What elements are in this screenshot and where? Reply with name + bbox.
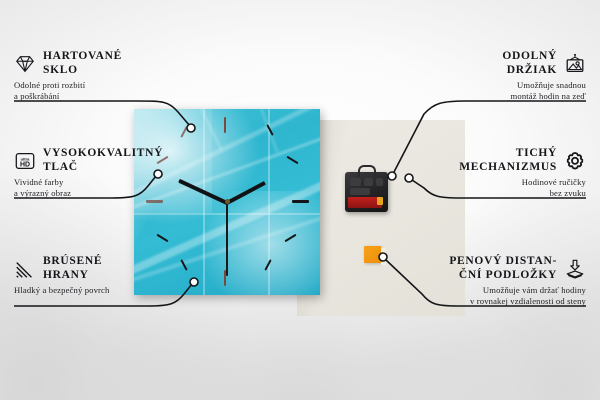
- callout-subtitle-line2: montáž hodin na zeď: [406, 91, 586, 102]
- callout-title-line1: VYSOKOKVALITNÝ: [43, 147, 163, 161]
- callout-title-line2: TLAČ: [43, 161, 163, 175]
- battery-terminal: [377, 197, 383, 205]
- callout-polished-edges[interactable]: BRÚSENÉ HRANY Hladký a bezpečný povrch: [14, 255, 199, 296]
- clock-tick: [146, 200, 163, 203]
- mechanism-detail: [350, 188, 370, 195]
- clock-reflection-line: [268, 109, 270, 295]
- diamond-icon: [14, 53, 36, 75]
- product-infographic: HARTOVANÉ SKLO Odolné proti rozbití a po…: [0, 0, 600, 400]
- callout-subtitle-line1: Umožňuje snadnou: [406, 77, 586, 91]
- brushed-edges-icon: [14, 258, 36, 280]
- callout-subtitle-line1: Odolné proti rozbití: [14, 77, 189, 91]
- callout-title-line2: SKLO: [43, 64, 122, 78]
- clock-tick: [224, 117, 226, 133]
- callout-high-quality-print[interactable]: ultra HD VYSOKOKVALITNÝ TLAČ Vividné far…: [14, 147, 189, 199]
- callout-subtitle-line2: a poškrábání: [14, 91, 189, 102]
- clock-mechanism: [345, 172, 388, 212]
- callout-foam-spacers[interactable]: PENOVÝ DISTAN- ČNÍ PODLOŽKY Umožňuje vám…: [371, 255, 586, 307]
- callout-header: ultra HD VYSOKOKVALITNÝ TLAČ: [14, 147, 189, 174]
- mechanism-detail: [376, 178, 383, 186]
- ultra-hd-icon: ultra HD: [14, 150, 36, 172]
- callout-title-line1: ODOLNÝ: [502, 50, 557, 64]
- callout-silent-mechanism[interactable]: TICHÝ MECHANIZMUS Hodinové ručičky bez z…: [406, 147, 586, 199]
- callout-header: HARTOVANÉ SKLO: [14, 50, 189, 77]
- callout-subtitle-line1: Vividné farby: [14, 174, 189, 188]
- mechanism-detail: [364, 178, 373, 186]
- clock-reflection-line: [203, 109, 205, 295]
- callout-header: ODOLNÝ DRŽIAK: [406, 50, 586, 77]
- callout-title-line1: PENOVÝ DISTAN-: [449, 255, 557, 269]
- callout-subtitle-line1: Hladký a bezpečný povrch: [14, 282, 199, 296]
- callout-title-line1: HARTOVANÉ: [43, 50, 122, 64]
- callout-subtitle-line2: v rovnakej vzdialenosti od steny: [371, 296, 586, 307]
- callout-title-line2: DRŽIAK: [502, 64, 557, 78]
- gear-icon: [564, 150, 586, 172]
- battery: [348, 197, 382, 208]
- callout-title-line1: BRÚSENÉ: [43, 255, 102, 269]
- mechanism-hanger-icon: [358, 165, 376, 177]
- clock-glow: [201, 191, 320, 295]
- svg-text:HD: HD: [20, 161, 30, 168]
- callout-header: TICHÝ MECHANIZMUS: [406, 147, 586, 174]
- callout-subtitle-line1: Hodinové ručičky: [406, 174, 586, 188]
- callout-title-line2: HRANY: [43, 269, 102, 283]
- callout-subtitle-line2: bez zvuku: [406, 188, 586, 199]
- callout-tempered-glass[interactable]: HARTOVANÉ SKLO Odolné proti rozbití a po…: [14, 50, 189, 102]
- callout-header: PENOVÝ DISTAN- ČNÍ PODLOŽKY: [371, 255, 586, 282]
- hanging-picture-icon: [564, 53, 586, 75]
- callout-header: BRÚSENÉ HRANY: [14, 255, 199, 282]
- clock-center-hub: [225, 199, 230, 204]
- foam-spacer-icon: [564, 258, 586, 280]
- callout-title-line2: MECHANIZMUS: [459, 161, 557, 175]
- callout-title-line1: TICHÝ: [459, 147, 557, 161]
- callout-title-line2: ČNÍ PODLOŽKY: [449, 269, 557, 283]
- clock-second-hand: [226, 202, 228, 276]
- callout-subtitle-line2: a výrazný obraz: [14, 188, 189, 199]
- callout-subtitle-line1: Umožňuje vám držať hodiny: [371, 282, 586, 296]
- callout-durable-hanger[interactable]: ODOLNÝ DRŽIAK Umožňuje snadnou montáž ho…: [406, 50, 586, 102]
- clock-tick: [286, 156, 298, 164]
- mechanism-detail: [350, 178, 361, 186]
- clock-tick: [292, 200, 309, 203]
- svg-text:ultra: ultra: [21, 156, 30, 161]
